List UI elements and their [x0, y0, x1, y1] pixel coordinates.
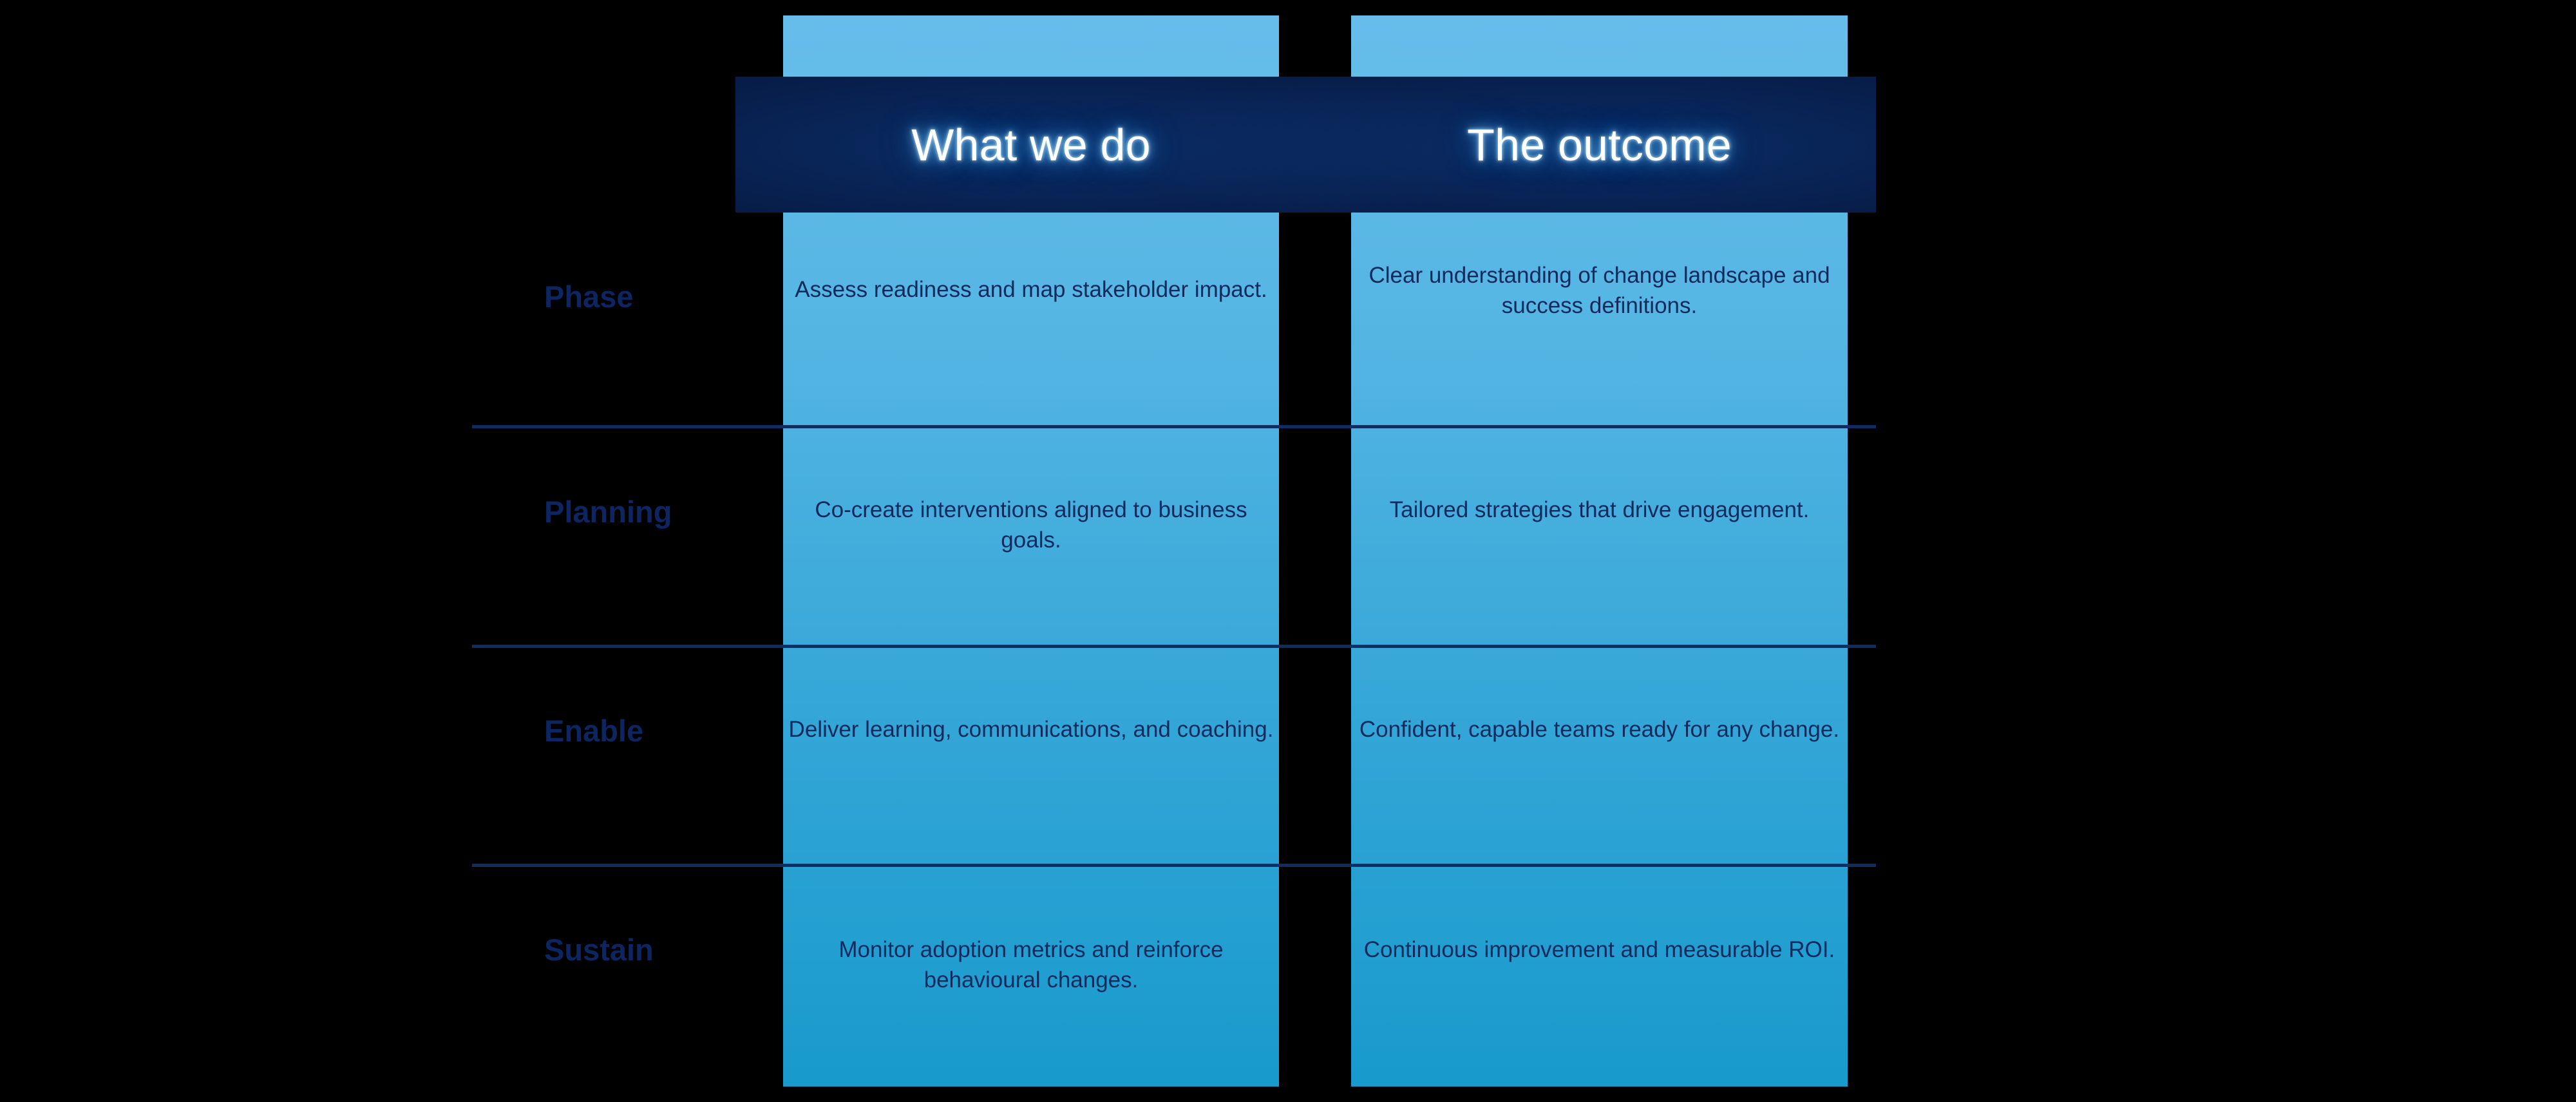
header-cell-what-we-do: What we do: [783, 77, 1279, 213]
cell-what-we-do-sustain: Monitor adoption metrics and reinforce b…: [783, 935, 1279, 995]
row-label-sustain: Sustain: [544, 935, 654, 965]
row-label-planning: Planning: [544, 497, 672, 527]
cell-what-we-do-planning: Co-create interventions aligned to busin…: [783, 495, 1279, 555]
header-cell-the-outcome: The outcome: [1351, 77, 1848, 213]
row-label-enable: Enable: [544, 716, 643, 746]
row-label-phase: Phase: [544, 281, 633, 312]
cell-outcome-phase: Clear understanding of change landscape …: [1351, 261, 1848, 321]
row-divider-3: [472, 864, 1876, 867]
cell-outcome-sustain: Continuous improvement and measurable RO…: [1351, 935, 1848, 965]
cell-outcome-enable: Confident, capable teams ready for any c…: [1351, 715, 1848, 745]
cell-what-we-do-enable: Deliver learning, communications, and co…: [783, 715, 1279, 745]
header-title-what-we-do: What we do: [911, 122, 1151, 167]
cell-outcome-planning: Tailored strategies that drive engagemen…: [1351, 495, 1848, 526]
header-band: What we do The outcome: [735, 77, 1876, 213]
row-divider-1: [472, 425, 1876, 428]
row-divider-2: [472, 645, 1876, 648]
slide-canvas: What we do The outcome Phase Planning En…: [0, 0, 2576, 1102]
cell-what-we-do-phase: Assess readiness and map stakeholder imp…: [783, 275, 1279, 305]
header-title-the-outcome: The outcome: [1467, 122, 1732, 167]
